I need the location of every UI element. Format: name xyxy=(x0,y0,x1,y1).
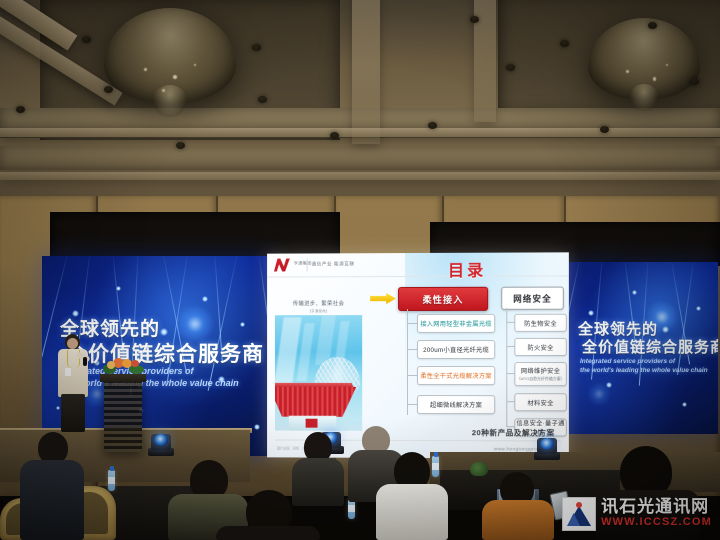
side-caption-sub: 【亨通使命】 xyxy=(277,308,360,313)
attendee-7 xyxy=(482,472,554,540)
right-led-banner: 全球领先的 全价值链综合服务商 Integrated service provi… xyxy=(566,262,718,434)
network-security-item-3-sub: （MTO自愈光纤传输方案） xyxy=(517,376,565,382)
attendee-6 xyxy=(376,452,448,540)
left-banner-title-line2: 全价值链综合服务商 xyxy=(66,338,264,368)
water-bottle-3 xyxy=(108,470,115,491)
presenter xyxy=(56,334,90,430)
side-caption-text: 传输进步、繁荣社会 xyxy=(293,301,345,307)
network-security-item-4: 材料安全 xyxy=(514,393,567,411)
network-security-item-3-label: 网络维护安全 xyxy=(521,366,560,375)
slide-company-tagline: 通信产业 能源互联 xyxy=(312,261,355,267)
slide-photo xyxy=(275,315,362,431)
network-security-item-3: 网络维护安全 （MTO自愈光纤传输方案） xyxy=(514,362,567,386)
slide-title: 目录 xyxy=(448,257,486,281)
right-banner-title-line2: 全价值链综合服务商 xyxy=(582,336,718,357)
column-head-network-security: 网络安全 xyxy=(501,287,564,310)
watermark-site-name: 讯石光通讯网 xyxy=(601,498,712,515)
flexible-access-item-1: 接入网用轻型非金属光缆 xyxy=(417,314,495,333)
slide-company-name: 亨通集团 xyxy=(294,260,312,266)
flexible-access-item-3: 柔性全干式光缆解决方案 xyxy=(417,366,495,385)
china-pavilion xyxy=(275,387,356,417)
watermark-site-url: WWW.ICCSZ.COM xyxy=(601,515,712,529)
column-head-flexible-access: 柔性接入 xyxy=(398,287,488,311)
right-banner-subtitle-line1: Integrated service providers of xyxy=(580,358,675,365)
network-security-item-1: 防生物安全 xyxy=(514,314,567,332)
right-banner-subtitle-line2: the world's leading the whole value chai… xyxy=(580,367,708,374)
presenter-face xyxy=(67,338,78,349)
lectern xyxy=(104,380,142,452)
network-security-item-2: 防火安全 xyxy=(514,338,567,356)
ceiling xyxy=(0,0,720,208)
iccsz-watermark: 讯石光通讯网 WWW.ICCSZ.COM xyxy=(562,496,712,532)
flexible-access-item-2: 200um小直径光纤光缆 xyxy=(417,340,495,359)
attendee-front-left xyxy=(20,432,84,540)
presenter-badge xyxy=(65,368,71,376)
china-pavilion-base xyxy=(289,416,337,431)
flexible-access-item-4: 超细微线解决方案 xyxy=(417,395,495,414)
presentation-slide: 亨通集团 通信产业 能源互联 目录 传输进步、繁荣社会 【亨通使命】 柔性接入 … xyxy=(267,252,569,458)
header-divider xyxy=(307,258,308,271)
attendee-4 xyxy=(292,432,344,506)
stage-light-left xyxy=(148,432,174,456)
microphone-icon xyxy=(83,357,87,366)
stage-light-right xyxy=(534,436,560,460)
mountain-logo-icon xyxy=(562,497,596,531)
conference-hall-photo: 全球领先的 全价值链综合服务商 Integrated service provi… xyxy=(0,0,720,540)
flower-arrangement xyxy=(101,356,145,378)
presenter-legs xyxy=(61,394,85,432)
slide-side-caption: 传输进步、繁荣社会 【亨通使命】 xyxy=(277,299,360,313)
yellow-arrow-icon xyxy=(370,293,396,304)
